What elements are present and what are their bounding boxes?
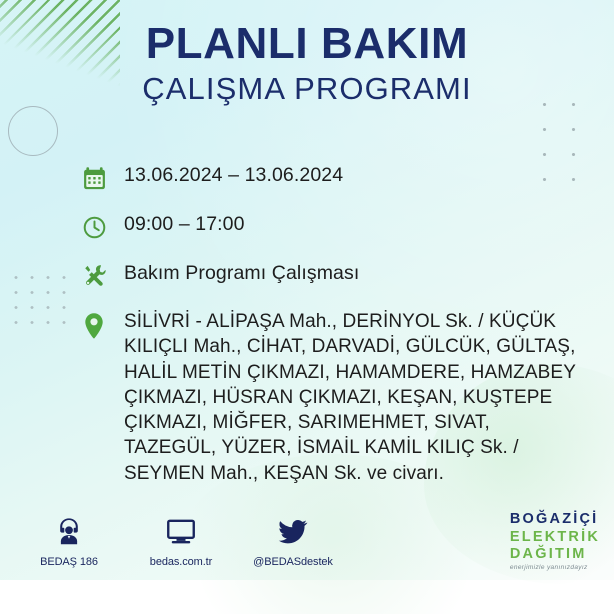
info-row-location: SİLİVRİ - ALİPAŞA Mah., DERİNYOL Sk. / K…: [82, 309, 582, 486]
clock-icon: [82, 211, 124, 242]
page-title: PLANLI BAKIM: [0, 22, 614, 67]
planned-maintenance-poster: PLANLI BAKIM ÇALIŞMA PROGRAMI: [0, 0, 614, 614]
maintenance-date: 13.06.2024 – 13.06.2024: [124, 162, 343, 186]
maintenance-time: 09:00 – 17:00: [124, 211, 245, 235]
maintenance-work-type: Bakım Programı Çalışması: [124, 260, 359, 284]
contact-item-phone[interactable]: BEDAŞ 186: [28, 512, 110, 568]
info-row-time: 09:00 – 17:00: [82, 211, 582, 242]
monitor-icon: [140, 512, 222, 552]
map-pin-icon: [82, 309, 124, 341]
contact-item-website[interactable]: bedas.com.tr: [140, 512, 222, 568]
contact-label-twitter: @BEDASdestek: [252, 556, 334, 568]
calendar-icon: [82, 162, 124, 193]
contact-item-twitter[interactable]: @BEDASdestek: [252, 512, 334, 568]
brand-line-1: BOĞAZİÇİ: [510, 512, 600, 527]
page-subtitle: ÇALIŞMA PROGRAMI: [0, 73, 614, 106]
contact-footer: BEDAŞ 186 bedas.com.tr @BEDASdestek: [28, 512, 334, 568]
brand-tagline: enerjimizle yanınızdayız: [510, 565, 600, 572]
maintenance-location: SİLİVRİ - ALİPAŞA Mah., DERİNYOL Sk. / K…: [124, 309, 582, 486]
brand-line-3: DAĞITIM: [510, 547, 600, 562]
info-list: 13.06.2024 – 13.06.2024 09:00 – 17:00: [82, 162, 582, 486]
twitter-bird-icon: [252, 512, 334, 552]
poster-header: PLANLI BAKIM ÇALIŞMA PROGRAMI: [0, 22, 614, 105]
brand-line-2: ELEKTRİK: [510, 530, 600, 545]
contact-label-website: bedas.com.tr: [140, 556, 222, 568]
contact-label-phone: BEDAŞ 186: [28, 556, 110, 568]
info-row-work-type: Bakım Programı Çalışması: [82, 260, 582, 291]
bedas-logo: BOĞAZİÇİ ELEKTRİK DAĞITIM enerjimizle ya…: [510, 512, 600, 571]
call-center-agent-icon: [28, 512, 110, 552]
info-row-date: 13.06.2024 – 13.06.2024: [82, 162, 582, 193]
tools-icon: [82, 260, 124, 291]
